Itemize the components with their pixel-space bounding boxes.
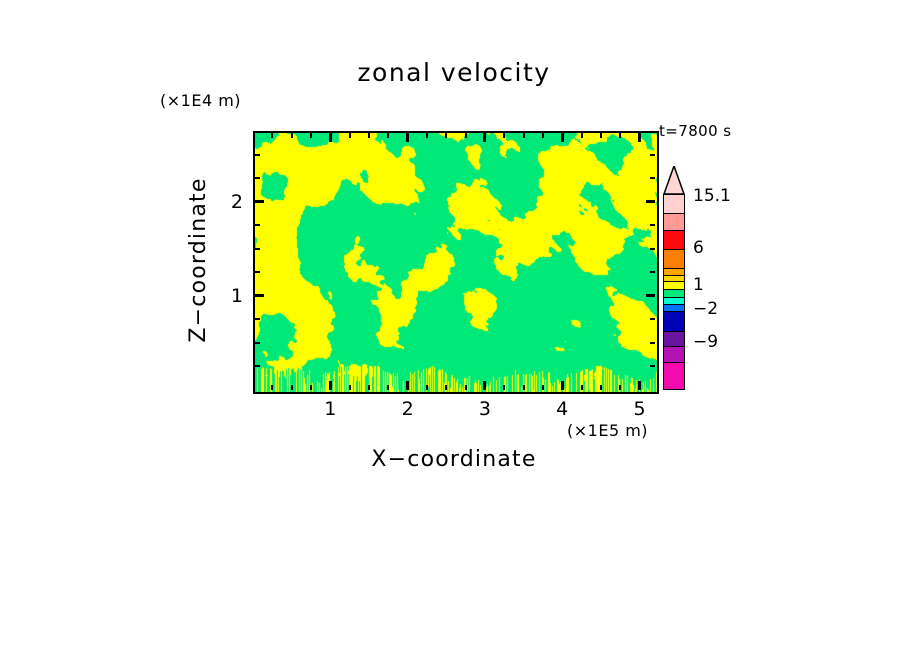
axis-tick-mark <box>465 133 467 138</box>
axis-tick-mark <box>255 318 260 320</box>
axis-tick-mark <box>387 133 389 138</box>
axis-tick-mark <box>523 385 525 390</box>
axis-tick-mark <box>581 385 583 390</box>
colorbar-segment <box>664 276 684 283</box>
axis-tick-mark <box>646 294 655 297</box>
colorbar-segment <box>664 347 684 363</box>
colorbar-tick-label: −9 <box>693 332 718 352</box>
axis-tick-mark <box>271 385 273 390</box>
axis-tick-mark <box>329 381 332 390</box>
axis-tick-mark <box>387 385 389 390</box>
axis-tick-mark <box>310 385 312 390</box>
axis-tick-mark <box>465 385 467 390</box>
axis-tick-mark <box>600 133 602 138</box>
axis-tick-mark <box>255 177 260 179</box>
colorbar-tick-label: 6 <box>693 238 704 258</box>
axis-tick-mark <box>368 385 370 390</box>
colorbar-arrow-icon <box>663 166 685 194</box>
axis-tick-mark <box>638 381 641 390</box>
axis-tick-mark <box>542 385 544 390</box>
axis-tick-mark <box>503 385 505 390</box>
colorbar-segment <box>664 363 684 389</box>
axis-tick-mark <box>650 248 655 250</box>
timestamp-annotation: t=7800 s <box>659 122 731 140</box>
axis-tick-mark <box>349 133 351 138</box>
axis-tick-mark <box>619 385 621 390</box>
axis-tick-mark <box>561 133 564 142</box>
colorbar-tick-label: −2 <box>693 299 718 319</box>
axis-tick-mark <box>349 385 351 390</box>
colorbar-segment <box>664 305 684 312</box>
colorbar-segment <box>664 312 684 332</box>
axis-tick-mark <box>406 381 409 390</box>
axis-tick-mark <box>523 133 525 138</box>
axis-tick-mark <box>650 224 655 226</box>
colorbar-segment <box>664 269 684 276</box>
axis-tick-mark <box>542 133 544 138</box>
colorbar[interactable] <box>663 194 685 390</box>
colorbar-segment <box>664 231 684 249</box>
axis-tick-mark <box>255 200 264 203</box>
contour-field <box>255 133 657 392</box>
colorbar-segment <box>664 332 684 348</box>
figure-canvas: zonal velocity (×1E4 m) 1234512 (×1E5 m)… <box>0 0 904 654</box>
x-axis-unit-label: (×1E5 m) <box>567 421 648 440</box>
axis-tick-mark <box>483 133 486 142</box>
axis-tick-mark <box>255 365 260 367</box>
axis-tick-mark <box>650 177 655 179</box>
plot-area[interactable] <box>253 131 659 394</box>
colorbar-tick-label: 1 <box>693 275 704 295</box>
axis-tick-mark <box>650 271 655 273</box>
axis-tick-mark <box>600 385 602 390</box>
axis-tick-mark <box>406 133 409 142</box>
axis-tick-mark <box>650 154 655 156</box>
axis-tick-mark <box>619 133 621 138</box>
colorbar-segment <box>664 298 684 305</box>
axis-tick-mark <box>255 271 260 273</box>
axis-tick-mark <box>255 248 260 250</box>
y-axis-label-text: Z−coordinate <box>186 150 211 370</box>
axis-tick-mark <box>255 224 260 226</box>
x-tick-label: 3 <box>479 398 491 420</box>
y-tick-label: 1 <box>219 285 243 307</box>
axis-tick-mark <box>426 385 428 390</box>
colorbar-segment <box>664 290 684 298</box>
colorbar-tick-label: 15.1 <box>693 186 731 206</box>
axis-tick-mark <box>650 342 655 344</box>
axis-tick-mark <box>329 133 332 142</box>
axis-tick-mark <box>503 133 505 138</box>
y-axis-label: Z−coordinate <box>186 0 208 150</box>
axis-tick-mark <box>291 385 293 390</box>
y-tick-label: 2 <box>219 191 243 213</box>
colorbar-segment <box>664 214 684 231</box>
x-axis-label: X−coordinate <box>253 447 655 472</box>
axis-tick-mark <box>271 133 273 138</box>
axis-tick-mark <box>650 318 655 320</box>
axis-tick-mark <box>255 154 260 156</box>
axis-tick-mark <box>650 365 655 367</box>
axis-tick-mark <box>646 200 655 203</box>
colorbar-segment <box>664 250 684 269</box>
colorbar-segment <box>664 282 684 290</box>
x-tick-label: 4 <box>556 398 568 420</box>
axis-tick-mark <box>561 381 564 390</box>
page-title: zonal velocity <box>253 58 655 87</box>
axis-tick-mark <box>255 294 264 297</box>
axis-tick-mark <box>368 133 370 138</box>
axis-tick-mark <box>445 133 447 138</box>
axis-tick-mark <box>291 133 293 138</box>
x-tick-label: 5 <box>633 398 645 420</box>
colorbar-segment <box>664 195 684 214</box>
axis-tick-mark <box>255 342 260 344</box>
axis-tick-mark <box>483 381 486 390</box>
axis-tick-mark <box>426 133 428 138</box>
x-tick-label: 2 <box>402 398 414 420</box>
axis-tick-mark <box>310 133 312 138</box>
axis-tick-mark <box>638 133 641 142</box>
axis-tick-mark <box>445 385 447 390</box>
x-tick-label: 1 <box>324 398 336 420</box>
axis-tick-mark <box>581 133 583 138</box>
